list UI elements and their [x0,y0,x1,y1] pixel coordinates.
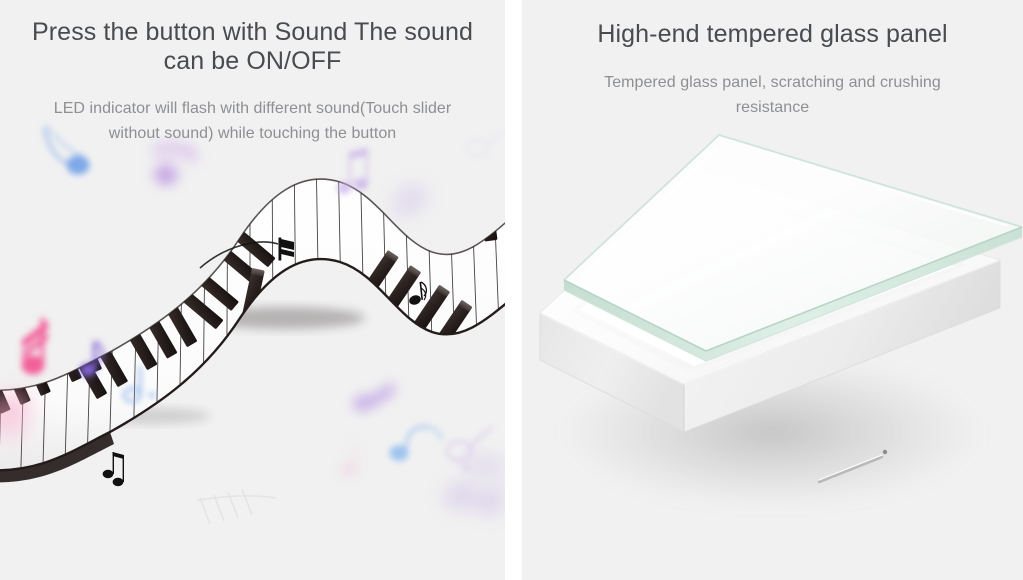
note-ghost-outline [467,130,505,156]
feature-panels-stage: Press the button with Sound The sound ca… [0,0,1023,580]
panel-divider [505,0,522,580]
sketch-lines [198,489,276,524]
tempered-glass-switch-illustration [522,0,1023,580]
note-flag-violet [351,382,396,414]
piano-ribbon [0,150,505,500]
note-beamed-black [103,452,124,486]
note-eighth-blue-large [44,126,89,174]
note-beamed-pink [22,318,48,374]
note-eighth-lightblue [390,426,441,460]
wavy-piano-keyboard-illustration [0,0,505,580]
panel-sound-feature: Press the button with Sound The sound ca… [0,0,505,580]
note-swoosh-purple [152,146,198,185]
note-cluster-lavender [446,458,502,512]
note-blob-lavender [389,181,431,220]
note-ghost-pink [341,440,357,476]
panel-glass-feature: High-end tempered glass panel Tempered g… [522,0,1023,580]
